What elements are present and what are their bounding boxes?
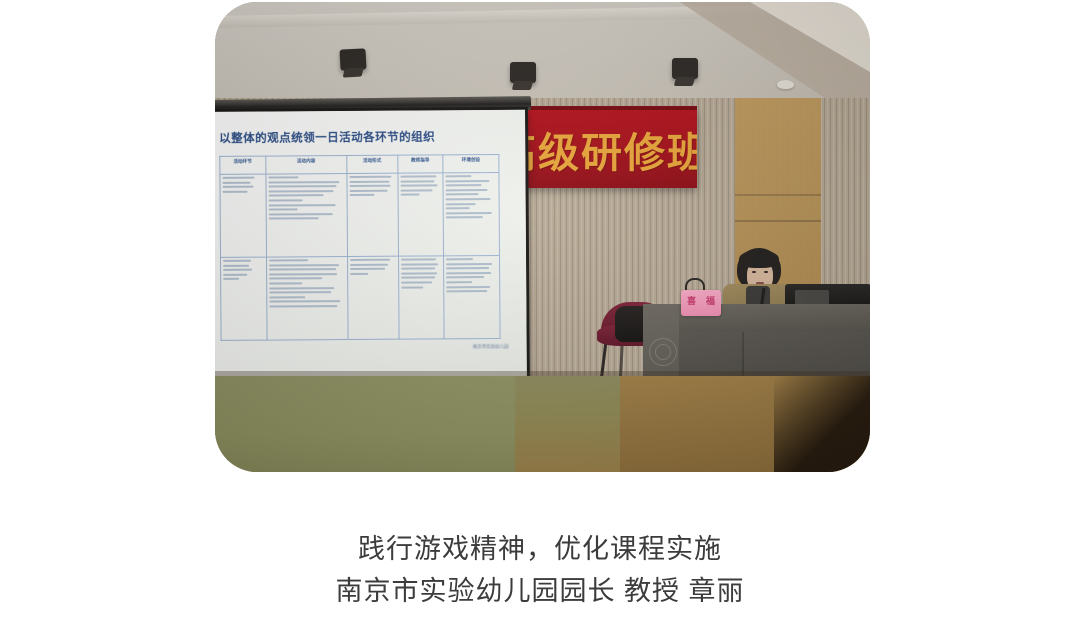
slide-col-header: 教师指导 <box>397 155 443 173</box>
caption-speaker: 南京市实验幼儿园园长 教授 章丽 <box>0 570 1080 612</box>
speaker-fringe <box>739 250 779 268</box>
lecture-photo-card[interactable]: 高级研修班 以整体的观点统领一日活动各环节的组织 活动环节 活动内容 活动形式 <box>215 2 870 472</box>
slide-col-header: 活动内容 <box>265 156 347 175</box>
slide-col-header: 环境创设 <box>443 154 499 172</box>
slide-cell <box>444 255 500 338</box>
ceiling-spotlight-icon <box>672 58 698 79</box>
podium-emblem-icon <box>649 338 677 366</box>
ceiling-slope-highlight <box>750 2 870 72</box>
slide-cell <box>443 172 499 255</box>
slide-cell <box>265 174 347 258</box>
slide-cell <box>266 257 348 341</box>
pink-bag-glyph: 福 <box>706 297 715 306</box>
speaker-eye <box>752 271 756 273</box>
smoke-detector-icon <box>777 80 794 89</box>
slide-table-row <box>220 172 500 257</box>
slide-cell <box>347 173 398 256</box>
slide-cell <box>221 257 267 340</box>
speaker-eye <box>764 271 768 273</box>
slide-table-row <box>221 255 501 340</box>
floor-baseboard <box>215 371 870 376</box>
slide-cell <box>398 173 444 256</box>
projection-screen: 以整体的观点统领一日活动各环节的组织 活动环节 活动内容 活动形式 教师指导 环… <box>215 110 527 384</box>
caption-block: 践行游戏精神，优化课程实施 南京市实验幼儿园园长 教授 章丽 <box>0 528 1080 612</box>
slide-footer: 南京市实验幼儿园 <box>221 344 517 352</box>
slide-table: 活动环节 活动内容 活动形式 教师指导 环境创设 <box>219 154 500 341</box>
slide-content: 以整体的观点统领一日活动各环节的组织 活动环节 活动内容 活动形式 教师指导 环… <box>215 110 527 384</box>
wall-panel-seam <box>735 220 821 222</box>
floor-left-area <box>215 376 515 472</box>
ceiling-spotlight-icon <box>339 48 366 70</box>
floor-shadow-corner <box>774 376 870 472</box>
photo-scene: 高级研修班 以整体的观点统领一日活动各环节的组织 活动环节 活动内容 活动形式 <box>215 2 870 472</box>
slide-title: 以整体的观点统领一日活动各环节的组织 <box>219 128 515 146</box>
slide-cell <box>347 256 398 339</box>
slide-col-header: 活动环节 <box>220 156 266 174</box>
slide-cell <box>220 174 266 257</box>
caption-title: 践行游戏精神，优化课程实施 <box>0 528 1080 570</box>
slide-table-header-row: 活动环节 活动内容 活动形式 教师指导 环境创设 <box>220 154 499 174</box>
page-root: 高级研修班 以整体的观点统领一日活动各环节的组织 活动环节 活动内容 活动形式 <box>0 0 1080 626</box>
slide-col-header: 活动形式 <box>347 155 398 173</box>
ceiling-spotlight-icon <box>510 62 536 83</box>
slide-cell <box>398 256 444 339</box>
pink-bag-glyph: 喜 <box>687 297 696 306</box>
pink-gift-bag: 喜 福 <box>681 290 721 316</box>
